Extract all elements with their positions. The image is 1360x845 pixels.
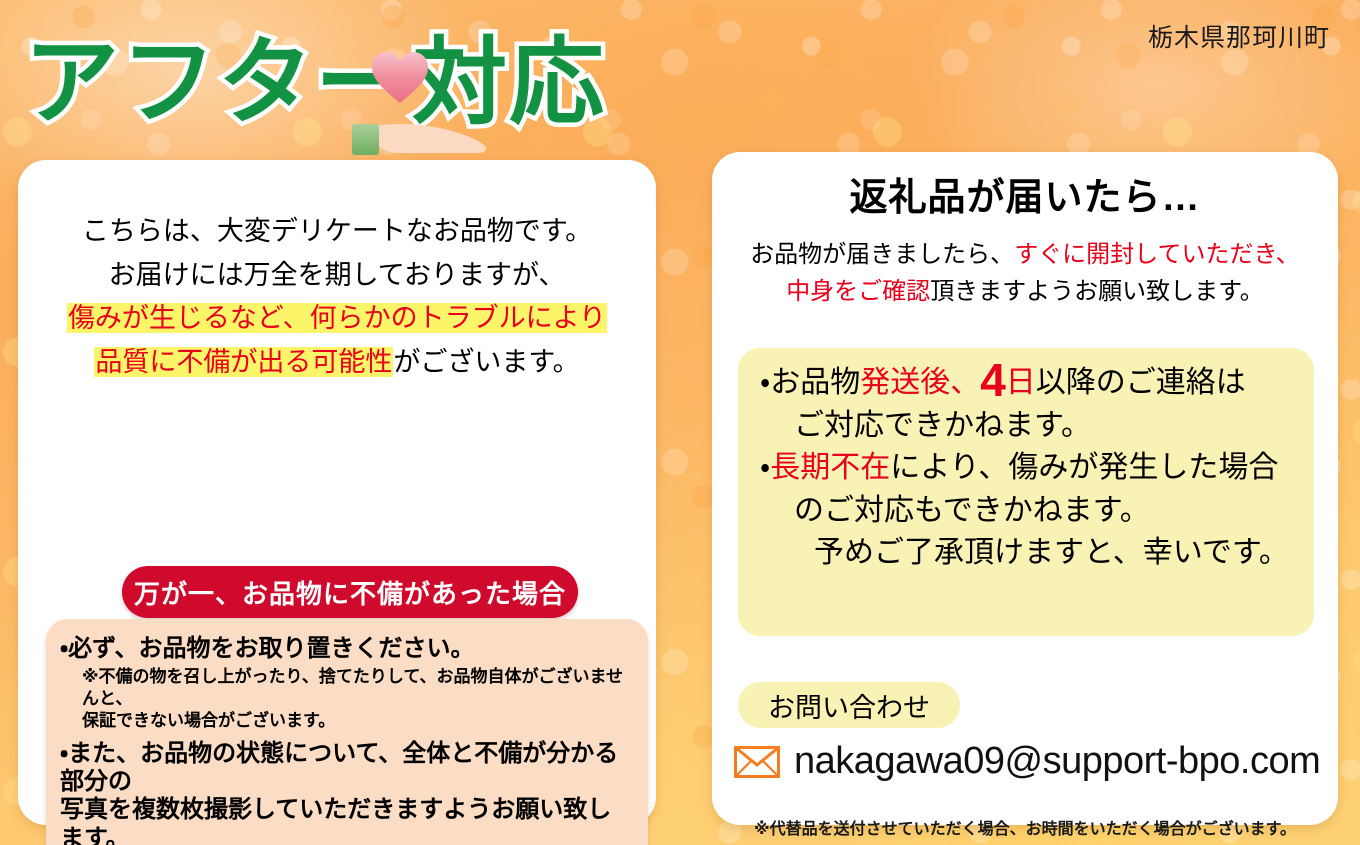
intro-line-4-highlight: 品質に不備が出る可能性 bbox=[94, 347, 393, 377]
warning-item-red: 長期不在 bbox=[770, 451, 890, 484]
warning-item-pre: ・ bbox=[760, 451, 770, 484]
list-item-note: ※不備の物を召し上がったり、捨てたりして、お品物自体がございませんと、 保証でき… bbox=[82, 666, 630, 731]
lead-line-2: 中身をご確認頂きますようお願い致します。 bbox=[712, 273, 1338, 310]
warning-item-pre: ・お品物 bbox=[760, 366, 860, 399]
warning-item-post: により、傷みが発生した場合 bbox=[890, 451, 1278, 484]
envelope-icon bbox=[734, 746, 780, 778]
warning-item: ・長期不在により、傷みが発生した場合 bbox=[760, 447, 1294, 490]
lead-line-2-red: 中身をご確認 bbox=[786, 278, 930, 305]
warning-item-day-unit: 日 bbox=[1006, 366, 1036, 399]
defect-case-banner-label: 万が一、お品物に不備があった場合 bbox=[134, 574, 566, 611]
warning-item-red: 発送後、 bbox=[860, 366, 980, 399]
page-title: アフター対応 bbox=[24, 36, 606, 131]
footnote: ※代替品を送付させていただく場合、お時間をいただく場合がございます。 bbox=[712, 815, 1338, 839]
warning-box: ・お品物発送後、4日以降のご連絡は ご対応できかねます。 ・長期不在により、傷み… bbox=[738, 348, 1314, 636]
warning-item-days: 4 bbox=[980, 354, 1006, 406]
warning-item: ・お品物発送後、4日以降のご連絡は bbox=[760, 362, 1294, 405]
left-card: こちらは、大変デリケートなお品物です。 お届けには万全を期しておりますが、 傷み… bbox=[18, 160, 656, 825]
lead-line-1: お品物が届きましたら、すぐに開封していただき、 bbox=[712, 236, 1338, 273]
open-hand-icon bbox=[352, 120, 492, 162]
poster-root: 栃木県那珂川町 アフター対応 こちらは、大変デリケートなお品物です。 bbox=[0, 0, 1360, 845]
contact-email-row[interactable]: nakagawa09@support-bpo.com bbox=[734, 740, 1320, 783]
region-label: 栃木県那珂川町 bbox=[1148, 18, 1330, 54]
lead-line-1-red: すぐに開封していただき、 bbox=[1014, 241, 1300, 268]
defect-case-banner: 万が一、お品物に不備があった場合 bbox=[122, 566, 578, 618]
left-intro-block: こちらは、大変デリケートなお品物です。 お届けには万全を期しておりますが、 傷み… bbox=[18, 210, 656, 385]
heart-icon bbox=[370, 50, 430, 105]
intro-line-2: お届けには万全を期しておりますが、 bbox=[18, 254, 656, 298]
intro-line-4-plain: がございます。 bbox=[393, 347, 579, 377]
poster-title: アフター対応 bbox=[24, 36, 606, 152]
contact-label: お問い合わせ bbox=[738, 682, 960, 728]
contact-label-text: お問い合わせ bbox=[768, 686, 930, 725]
intro-line-3: 傷みが生じるなど、何らかのトラブルにより bbox=[18, 297, 656, 341]
list-item: ・必ず、お品物をお取り置きください。 bbox=[60, 635, 630, 663]
lead-line-2-plain: 頂きますようお願い致します。 bbox=[930, 278, 1264, 305]
instructions-box: ・必ず、お品物をお取り置きください。 ※不備の物を召し上がったり、捨てたりして、… bbox=[46, 619, 648, 845]
warning-item-line2: ご対応できかねます。 bbox=[760, 405, 1294, 448]
warning-closing: 予めご了承頂けますと、幸いです。 bbox=[760, 532, 1294, 575]
lead-line-1-plain: お品物が届きましたら、 bbox=[750, 241, 1014, 268]
intro-line-1: こちらは、大変デリケートなお品物です。 bbox=[18, 210, 656, 254]
list-item: ・また、お品物の状態について、全体と不備が分かる部分の 写真を複数枚撮影していた… bbox=[60, 740, 630, 845]
intro-line-4: 品質に不備が出る可能性がございます。 bbox=[18, 341, 656, 385]
warning-item-line2: のご対応もできかねます。 bbox=[760, 490, 1294, 533]
warning-item-post: 以降のご連絡は bbox=[1036, 366, 1246, 399]
right-lead-block: お品物が届きましたら、すぐに開封していただき、 中身をご確認頂きますようお願い致… bbox=[712, 236, 1338, 310]
right-panel-heading: 返礼品が届いたら… bbox=[712, 166, 1338, 221]
intro-line-3-highlight: 傷みが生じるなど、何らかのトラブルにより bbox=[67, 303, 607, 333]
contact-email-address[interactable]: nakagawa09@support-bpo.com bbox=[794, 740, 1320, 783]
right-card: 返礼品が届いたら… お品物が届きましたら、すぐに開封していただき、 中身をご確認… bbox=[712, 152, 1338, 825]
